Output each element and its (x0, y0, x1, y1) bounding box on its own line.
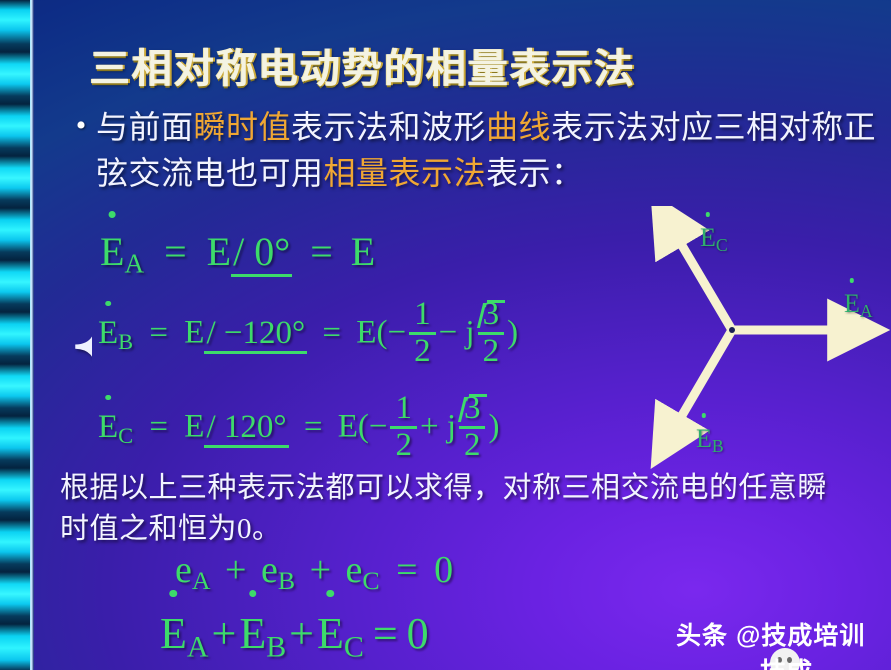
phasor-b-expr-open: E(− (356, 315, 406, 351)
phasor-c-magnitude: E (184, 409, 204, 445)
sum-e-b-subscript: B (278, 566, 295, 595)
phasor-c-fraction-root3: 32 (459, 392, 486, 462)
phasor-c-operator: + j (420, 409, 456, 445)
sum-e-b: e (261, 549, 278, 591)
phasor-origin-point (729, 327, 735, 333)
phasor-diagram-label-a: EA (844, 289, 873, 322)
phasor-c-symbol: E (98, 409, 118, 446)
phasor-a-symbol: E (100, 228, 124, 275)
bullet-text: 与前面瞬时值表示法和波形曲线表示法对应三相对称正弦交流电也可用相量表示法表示： (96, 104, 886, 196)
phasor-label-b-symbol: E (696, 424, 712, 454)
phasor-b-symbol: E (98, 315, 118, 352)
phasor-label-a-subscript: A (860, 301, 873, 321)
watermark: 头条 @技成培训 (676, 616, 865, 652)
watermark-handle: @技成培训 (736, 622, 865, 650)
phasor-a-magnitude: E (207, 229, 231, 274)
phasor-c-frac2-denominator: 2 (459, 426, 486, 463)
bullet-seg-6: 表示： (486, 155, 584, 191)
sum-e-a-subscript: A (192, 566, 211, 595)
sum-phasor-a: E (160, 608, 187, 659)
phasor-b-expr-close: ) (507, 315, 518, 351)
sum-phasor-b: E (239, 608, 266, 659)
phasor-c-frac1-numerator: 1 (390, 392, 417, 426)
phasor-a-equals-1: = (154, 229, 197, 274)
phasor-b-frac1-numerator: 1 (409, 298, 436, 332)
sum-plus-1: + (220, 549, 251, 591)
sum-zero: 0 (434, 549, 453, 591)
phasor-label-c-symbol: E (700, 223, 716, 253)
phasor-a-angle: / 0° (231, 229, 292, 274)
phasor-arrow-b (677, 330, 732, 424)
phasor-c-expr-open: E(− (338, 409, 388, 445)
sum-e-c: e (346, 549, 363, 591)
bullet-seg-1-highlight: 瞬时值 (194, 109, 292, 145)
equation-sum-phasors: EA+EB+EC=0 (160, 608, 429, 664)
equation-group-brace: { (58, 244, 92, 434)
equation-sum-instantaneous: eA + eB + eC = 0 (175, 548, 453, 596)
bullet-seg-3-highlight: 曲线 (486, 109, 551, 145)
phasor-b-frac1-denominator: 2 (409, 332, 436, 369)
sum-e-a: e (175, 549, 192, 591)
phasor-b-fraction-root3: 32 (478, 298, 505, 368)
phasor-b-frac2-denominator: 2 (478, 332, 505, 369)
page-title: 三相对称电动势的相量表示法 (90, 36, 610, 94)
phasor-b-magnitude: E (184, 315, 204, 351)
phasor-b-fraction-half: 12 (409, 298, 436, 368)
phasor-diagram: EC EA EB (620, 206, 891, 470)
equation-phasor-c: EC = E/ 120° = E(−12+ j32) (98, 394, 499, 464)
phasor-b-equals-2: = (315, 315, 348, 351)
body-paragraph: 根据以上三种表示法都可以求得，对称三相交流电的任意瞬时值之和恒为0。 (60, 468, 850, 550)
sum-phasor-zero: 0 (407, 609, 429, 658)
sum-equals: = (389, 549, 424, 591)
phasor-c-angle: / 120° (204, 409, 288, 445)
sum-e-c-subscript: C (362, 566, 379, 595)
phasor-a-result: E (351, 229, 375, 274)
phasor-c-expr-close: ) (488, 409, 499, 445)
phasor-label-c-subscript: C (716, 235, 728, 255)
watermark-brand: 头条 (676, 622, 728, 650)
sum-phasor-c-subscript: C (344, 630, 364, 663)
sum-phasor-b-subscript: B (266, 630, 286, 663)
sum-phasor-equals: = (364, 609, 407, 658)
phasor-a-subscript: A (124, 249, 144, 279)
bullet-seg-5-highlight: 相量表示法 (324, 155, 487, 191)
phasor-c-frac1-denominator: 2 (390, 426, 417, 463)
phasor-b-angle: / −120° (204, 315, 307, 351)
phasor-b-equals-1: = (141, 315, 176, 351)
bullet-marker-icon: • (66, 104, 96, 148)
sum-phasor-plus-1: + (209, 609, 240, 658)
phasor-c-subscript: C (118, 423, 133, 448)
phasor-c-fraction-half: 12 (390, 392, 417, 462)
sum-phasor-plus-2: + (286, 609, 317, 658)
bullet-seg-0: 与前面 (96, 109, 194, 145)
phasor-b-radical: 3 (478, 298, 505, 332)
presentation-slide: 三相对称电动势的相量表示法 • 与前面瞬时值表示法和波形曲线表示法对应三相对称正… (0, 0, 891, 670)
phasor-label-a-symbol: E (844, 289, 860, 319)
sum-plus-2: + (305, 549, 336, 591)
phasor-c-radical: 3 (459, 392, 486, 426)
equation-phasor-b: EB = E/ −120° = E(−12− j32) (98, 300, 518, 370)
phasor-b-operator: − j (439, 315, 475, 351)
bullet-seg-2: 表示法和波形 (291, 109, 486, 145)
phasor-vectors-svg (620, 206, 891, 470)
watermark-secondary: 技成 (760, 652, 812, 670)
phasor-b-subscript: B (118, 329, 133, 354)
sum-phasor-c: E (317, 608, 344, 659)
phasor-diagram-label-c: EC (700, 223, 728, 256)
phasor-c-equals-2: = (297, 409, 330, 445)
phasor-label-b-subscript: B (712, 436, 724, 456)
phasor-a-equals-2: = (302, 229, 341, 274)
phasor-c-equals-1: = (141, 409, 176, 445)
phasor-diagram-label-b: EB (696, 424, 724, 457)
left-decorative-band (0, 0, 30, 670)
equation-phasor-a: EA = E/ 0° = E (100, 228, 375, 280)
bullet-paragraph: • 与前面瞬时值表示法和波形曲线表示法对应三相对称正弦交流电也可用相量表示法表示… (66, 104, 886, 196)
left-band-edge (30, 0, 34, 670)
sum-phasor-a-subscript: A (187, 630, 209, 663)
